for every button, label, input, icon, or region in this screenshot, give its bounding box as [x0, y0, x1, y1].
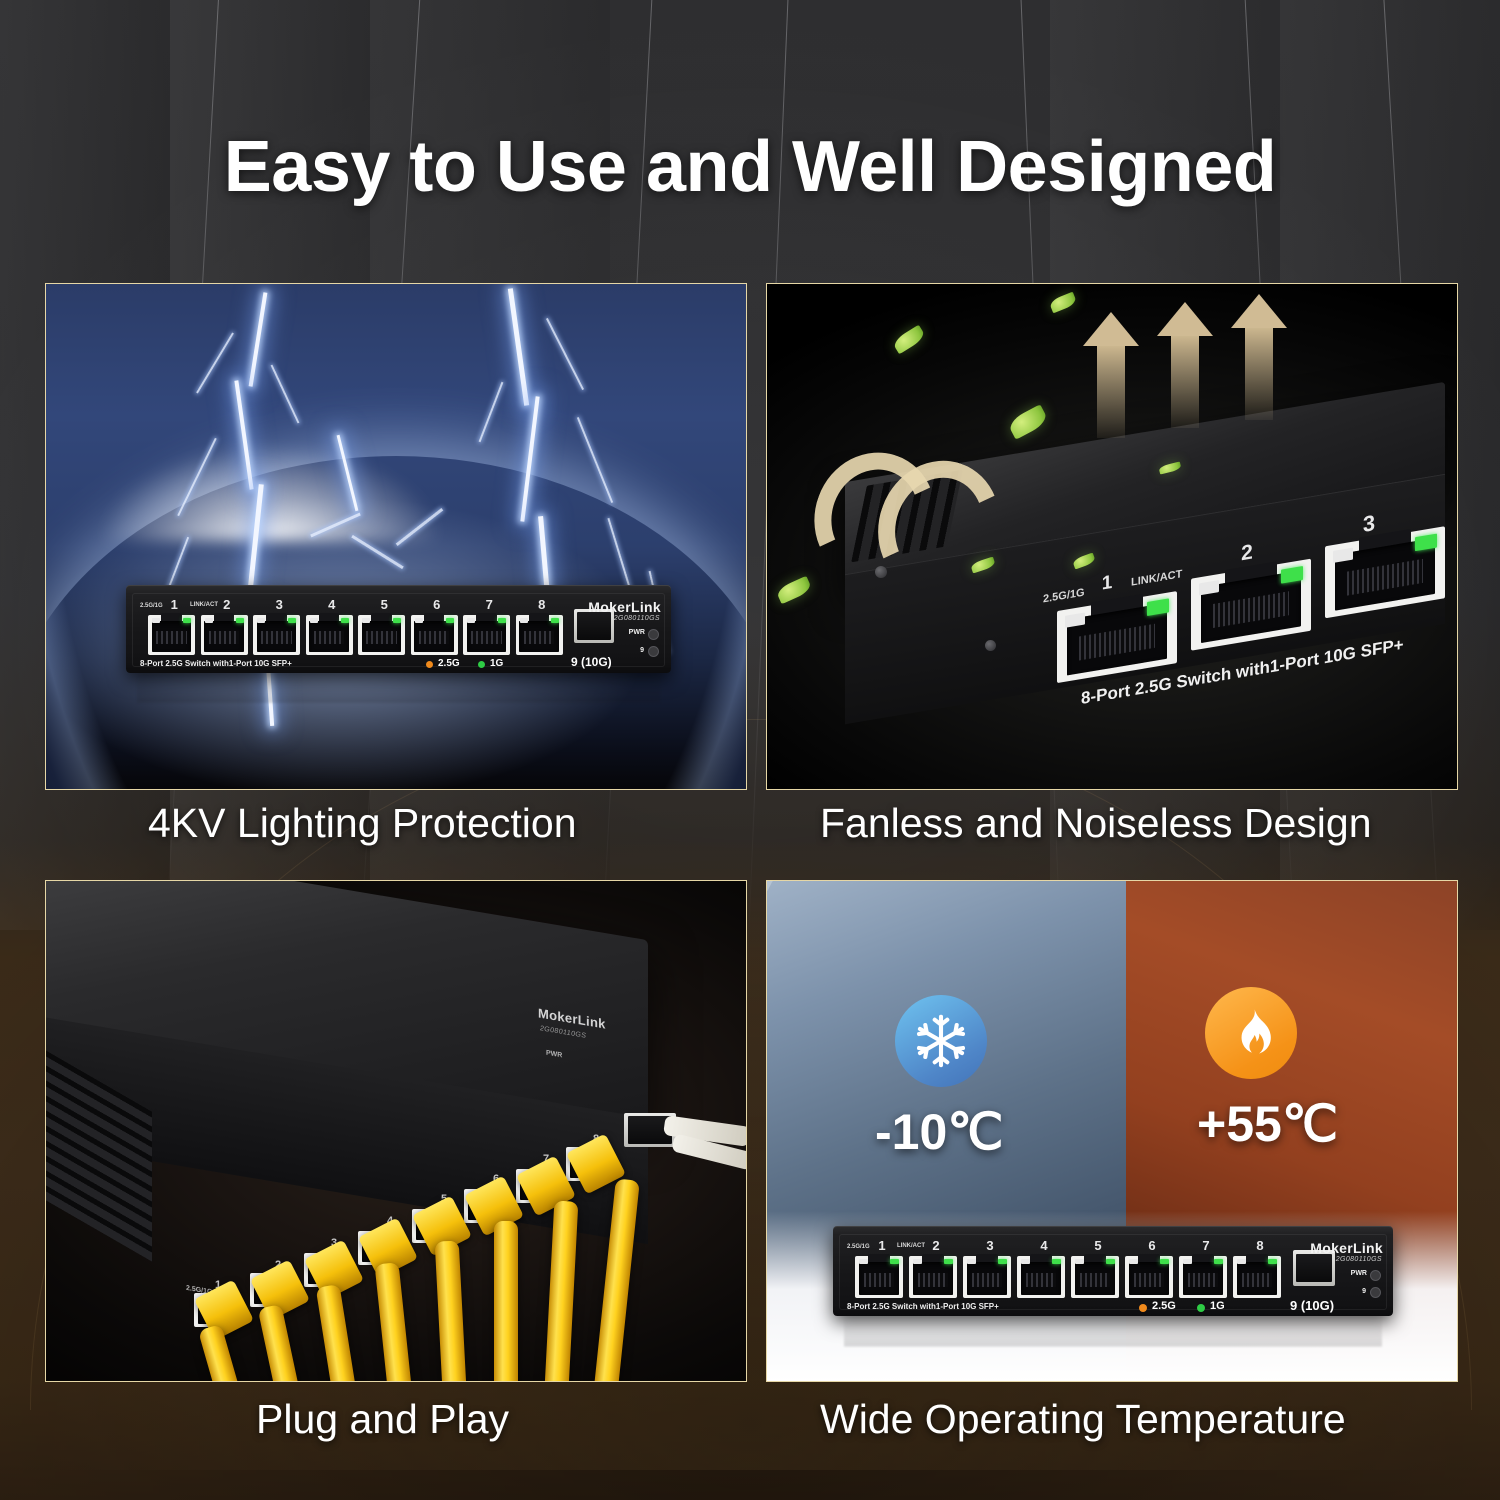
caption-plug-and-play: Plug and Play [256, 1396, 509, 1443]
model-number: 2G080110GS [614, 615, 660, 622]
port-number: 8 [1256, 1238, 1263, 1253]
port-number: 7 [486, 597, 493, 612]
port-number: 3 [1363, 510, 1375, 538]
port-number: 5 [381, 597, 388, 612]
rj45-port[interactable]: 1 [148, 597, 201, 655]
switch-reflection [137, 673, 660, 703]
panel-lightning-protection: 2.5G/1G LINK/ACT 1 2 [45, 283, 747, 790]
panel-plug-and-play: MokerLink 2G080110GS PWR 2.5G/1G 1 2 3 4… [45, 880, 747, 1382]
rj45-port[interactable]: 5 [358, 597, 411, 655]
device-tagline: 8-Port 2.5G Switch with1-Port 10G SFP+ [847, 1302, 999, 1311]
rj45-port[interactable]: 2 [909, 1238, 963, 1298]
port-number: 4 [1040, 1238, 1047, 1253]
port-number: 3 [276, 597, 283, 612]
legend-label-2-5g: 2.5G [438, 658, 460, 669]
rj45-port[interactable]: 5 [1071, 1238, 1125, 1298]
product-feature-page: Easy to Use and Well Designed [0, 0, 1500, 1500]
port-number: 8 [538, 597, 545, 612]
port-number: 2 [223, 597, 230, 612]
brand-logo: MokerLink [1310, 1240, 1383, 1256]
speed-label: 2.5G/1G [1043, 587, 1085, 606]
legend-label-1g: 1G [1210, 1300, 1225, 1312]
rj45-port[interactable]: 3 [253, 597, 306, 655]
port-number: 4 [328, 597, 335, 612]
rj45-port[interactable]: 6 [411, 597, 464, 655]
legend-dot-2-5g [426, 661, 433, 668]
network-switch-front-1: 2.5G/1G LINK/ACT 1 2 [126, 585, 671, 673]
hot-temperature-value: +55℃ [1197, 1095, 1338, 1153]
power-led [1370, 1270, 1381, 1281]
snowflake-icon [912, 1012, 970, 1070]
legend-label-2-5g: 2.5G [1152, 1300, 1176, 1312]
port-number: 5 [1094, 1238, 1101, 1253]
cold-temperature-value: -10℃ [875, 1103, 1003, 1161]
sfp-led [1370, 1287, 1381, 1298]
sfp-led-label: 9 [1362, 1288, 1366, 1295]
port-number: 3 [986, 1238, 993, 1253]
rj45-port[interactable]: 7 [1179, 1238, 1233, 1298]
rj45-port[interactable]: 8 [516, 597, 569, 655]
network-switch-front-2: 2.5G/1G LINK/ACT 1 2 [833, 1226, 1393, 1316]
brand-logo: MokerLink [588, 599, 661, 615]
link-act-label: LINK/ACT [1131, 568, 1182, 589]
legend-dot-2-5g [1139, 1304, 1147, 1312]
caption-operating-temperature: Wide Operating Temperature [820, 1396, 1346, 1443]
rj45-port[interactable]: 1 [855, 1238, 909, 1298]
port-number: 2 [1241, 540, 1253, 566]
port-number: 7 [1202, 1238, 1209, 1253]
chassis-screw [985, 640, 996, 651]
device-tagline: 8-Port 2.5G Switch with1-Port 10G SFP+ [140, 659, 292, 668]
port-number: 1 [1102, 572, 1113, 596]
hot-badge [1205, 987, 1297, 1079]
caption-fanless-design: Fanless and Noiseless Design [820, 800, 1372, 847]
switch-reflection [844, 1316, 1382, 1347]
panel-operating-temperature: -10℃ +55℃ 2.5G/1G LINK/ACT 1 [766, 880, 1458, 1382]
caption-lightning-protection: 4KV Lighting Protection [148, 800, 577, 847]
rj45-port-row: 1 2 3 [855, 1238, 1287, 1298]
legend-dot-1g [478, 661, 485, 668]
model-number: 2G080110GS [1336, 1256, 1382, 1263]
power-led [648, 629, 659, 640]
legend-dot-1g [1197, 1304, 1205, 1312]
rj45-port[interactable]: 4 [306, 597, 359, 655]
flame-icon [1224, 1006, 1278, 1060]
rj45-port[interactable] [1057, 591, 1177, 683]
sfp-port-label: 9 (10G) [1290, 1298, 1334, 1313]
port-number: 6 [433, 597, 440, 612]
port-number: 6 [1148, 1238, 1155, 1253]
rj45-port[interactable] [1191, 559, 1311, 651]
sfp-port-label: 9 (10G) [571, 655, 612, 669]
rj45-port[interactable]: 2 [201, 597, 254, 655]
sfp-led-label: 9 [640, 647, 644, 654]
power-led-label: PWR [629, 629, 645, 636]
rj45-port[interactable]: 7 [463, 597, 516, 655]
panel-fanless-design: 2.5G/1G 1 LINK/ACT 2 3 8-Port 2.5G Switc… [766, 283, 1458, 790]
port-number: 1 [171, 597, 178, 612]
sfp-led [648, 646, 659, 657]
power-led-label: PWR [1351, 1270, 1367, 1277]
rj45-port[interactable]: 6 [1125, 1238, 1179, 1298]
rj45-port[interactable]: 8 [1233, 1238, 1287, 1298]
page-title: Easy to Use and Well Designed [0, 126, 1500, 208]
rj45-port[interactable]: 4 [1017, 1238, 1071, 1298]
port-number: 1 [878, 1238, 885, 1253]
legend-label-1g: 1G [490, 658, 503, 669]
cold-badge [895, 995, 987, 1087]
rj45-port[interactable]: 3 [963, 1238, 1017, 1298]
port-number: 2 [932, 1238, 939, 1253]
rj45-port-row: 1 2 3 [148, 597, 568, 655]
rj45-port[interactable] [1325, 526, 1445, 618]
